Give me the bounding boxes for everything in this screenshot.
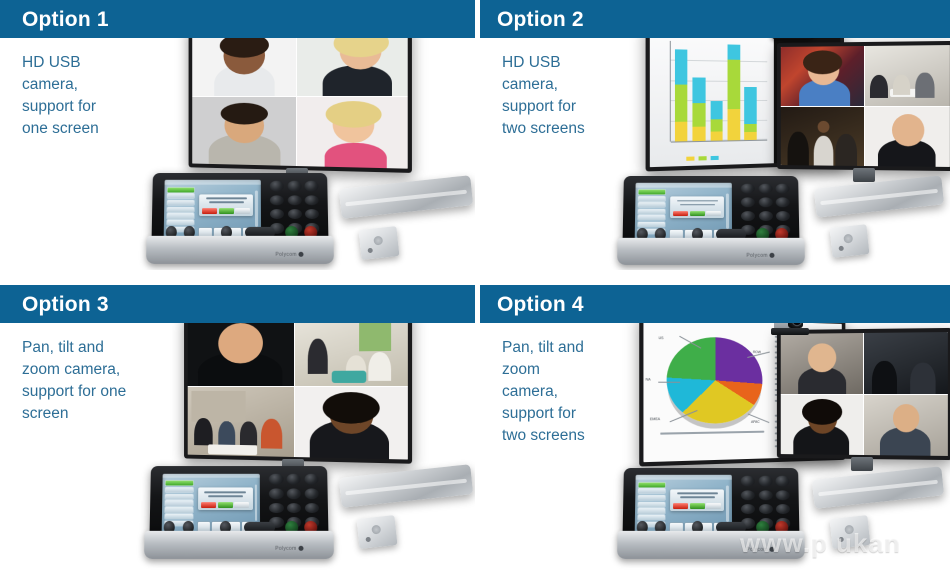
phone-dialog (670, 197, 724, 218)
bar-q5 (745, 86, 757, 140)
monitor-screen-video (781, 45, 950, 167)
pie-label: US (659, 335, 664, 339)
option-2-panel: Polycom Option 2 HD USB camera, support … (475, 0, 950, 270)
conference-phone: Polycom (151, 173, 329, 264)
bar-q3 (710, 101, 723, 141)
option-4-panel: US NA EMEA APAC ROW (475, 285, 950, 570)
monitor-bezel (192, 23, 407, 168)
option-1-title: Option 1 (22, 9, 109, 30)
option-1-caption: HD USB camera, support for one screen (22, 52, 172, 140)
video-tile (864, 107, 949, 167)
polycom-logo: Polycom (746, 546, 775, 552)
bar-chart-legend (686, 156, 718, 161)
phone-scrollbar[interactable] (726, 486, 729, 522)
conference-phone: Polycom (622, 468, 800, 559)
phone-scrollbar[interactable] (254, 484, 257, 521)
video-tile (188, 386, 294, 457)
video-tile (294, 387, 407, 460)
monitor-screen (188, 312, 408, 459)
bar-q1 (675, 50, 688, 142)
header-notch (475, 285, 480, 323)
option-3-caption: Pan, tilt and zoom camera, support for o… (22, 337, 172, 425)
display-monitor (189, 19, 412, 173)
video-tile (296, 97, 407, 169)
pie-label: ROW (753, 350, 761, 354)
video-tile (863, 332, 947, 393)
microphone-pod (830, 515, 871, 549)
option-4-header: Option 4 (475, 285, 950, 323)
option-4-caption: Pan, tilt and zoom camera, support for t… (502, 337, 652, 447)
video-tile (781, 394, 863, 455)
phone-dialog (198, 488, 253, 510)
polycom-logo: Polycom (746, 253, 775, 259)
conference-phone: Polycom (622, 176, 800, 265)
video-grid (188, 312, 408, 459)
pie-chart (667, 336, 763, 425)
header-notch (475, 0, 480, 38)
video-tile (864, 45, 949, 105)
phone-dialog (670, 489, 724, 510)
option-2-header: Option 2 (475, 0, 950, 38)
video-tile (188, 315, 294, 386)
microphone-pod (830, 224, 870, 258)
pie-chart-disc (667, 336, 763, 425)
microphone-bar (814, 175, 944, 217)
video-grid (781, 332, 948, 456)
monitor-bezel (781, 332, 948, 456)
microphone-pod (359, 226, 400, 260)
option-3-scene: Polycom (0, 285, 475, 570)
monitor-stand (851, 457, 873, 471)
video-tile (192, 96, 295, 166)
option-4-title: Option 4 (497, 294, 584, 315)
microphone-bar (339, 464, 473, 508)
video-tile (781, 46, 864, 106)
video-tile (294, 312, 407, 385)
option-1-header: Option 1 (0, 0, 475, 38)
ptz-camera-base (771, 328, 809, 335)
pie-label: APAC (751, 420, 760, 424)
polycom-logo: Polycom (275, 251, 304, 257)
phone-base (617, 238, 805, 265)
option-3-panel: Polycom Option 3 Pan, tilt and zoom came… (0, 285, 475, 570)
microphone-bar (812, 466, 944, 508)
document-paragraph (661, 431, 767, 433)
display-monitor-right (777, 41, 950, 171)
monitor-screen-video (781, 332, 948, 456)
option-2-caption: HD USB camera, support for two screens (502, 52, 652, 140)
conference-phone: Polycom (149, 466, 329, 559)
display-monitor (184, 308, 412, 464)
video-grid (192, 23, 407, 168)
monitor-stand (853, 168, 875, 182)
option-1-panel: Polycom Option 1 HD USB camera, support … (0, 0, 475, 270)
microphone-pod (357, 515, 398, 549)
video-tile (781, 106, 864, 166)
phone-scrollbar[interactable] (726, 193, 729, 228)
video-tile (781, 333, 863, 394)
bar-q4 (728, 44, 740, 141)
bar-q2 (693, 77, 706, 141)
polycom-logo: Polycom (275, 546, 304, 552)
monitor-bezel (188, 312, 408, 459)
phone-base (146, 236, 334, 264)
phone-dialog (199, 194, 253, 215)
phone-scrollbar[interactable] (255, 191, 258, 227)
bar-chart (650, 29, 774, 167)
phone-base (617, 531, 805, 559)
option-3-header: Option 3 (0, 285, 475, 323)
display-monitor-right (777, 328, 950, 460)
video-grid (781, 45, 950, 167)
phone-base (144, 531, 335, 559)
microphone-bar (339, 175, 473, 219)
video-tile (863, 395, 947, 456)
infographic-page: Polycom Option 1 HD USB camera, support … (0, 0, 950, 570)
option-3-title: Option 3 (22, 294, 109, 315)
monitor-bezel (781, 45, 950, 167)
monitor-screen (192, 23, 407, 168)
option-2-title: Option 2 (497, 9, 584, 30)
bar-chart-plot (671, 40, 767, 141)
